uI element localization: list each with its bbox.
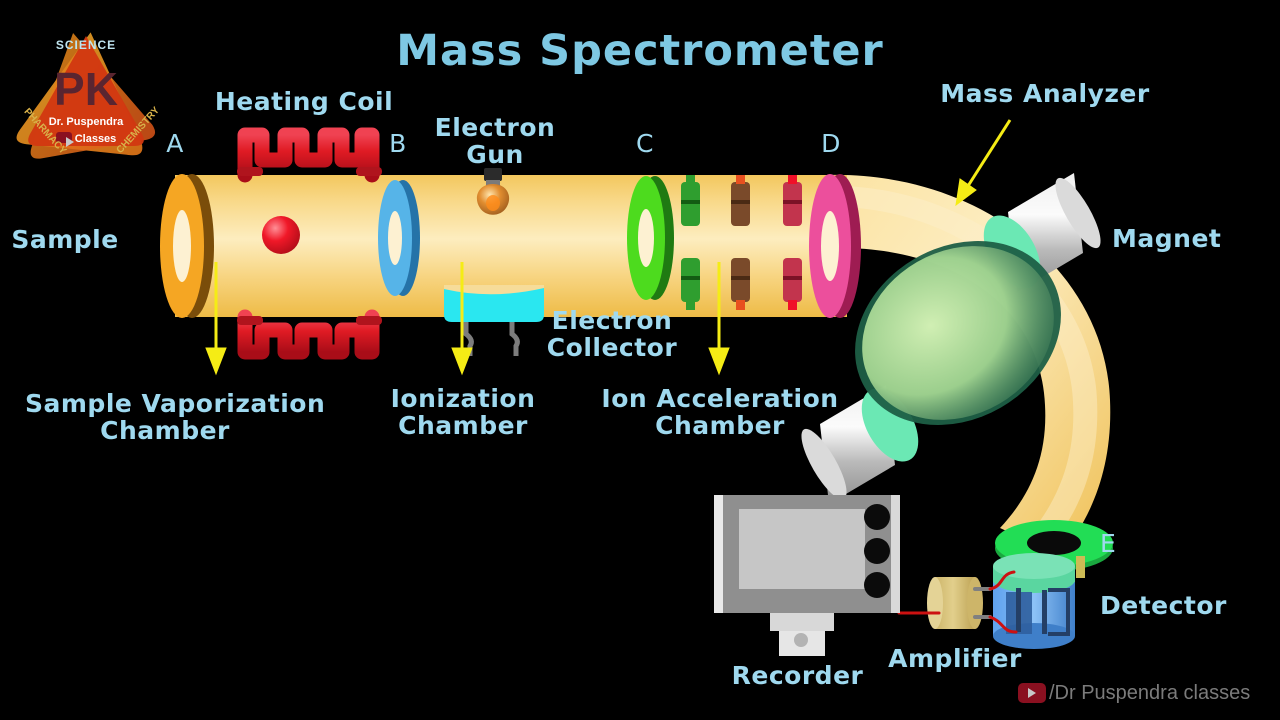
watermark-text: /Dr Puspendra classes bbox=[1049, 682, 1250, 704]
youtube-icon bbox=[1018, 683, 1046, 703]
label-recorder: Recorder bbox=[710, 662, 885, 689]
recorder-knob-3 bbox=[864, 572, 890, 598]
sample-droplet bbox=[262, 216, 300, 254]
label-mass-analyzer: Mass Analyzer bbox=[930, 80, 1160, 107]
page-title: Mass Spectrometer bbox=[340, 28, 940, 74]
label-ionization-chamber: Ionization Chamber bbox=[372, 385, 554, 439]
marker-a: A bbox=[155, 130, 195, 157]
heating-coil-top bbox=[237, 135, 382, 176]
label-ion-acceleration-chamber: Ion Acceleration Chamber bbox=[588, 385, 852, 439]
label-magnet: Magnet bbox=[1112, 225, 1262, 252]
label-electron-gun: Electron Gun bbox=[415, 114, 575, 168]
label-amplifier: Amplifier bbox=[880, 645, 1030, 672]
mass-analyzer-arrow bbox=[956, 120, 1010, 205]
marker-b: B bbox=[378, 130, 418, 157]
marker-c: C bbox=[625, 130, 665, 157]
marker-d: D bbox=[811, 130, 851, 157]
recorder-knob-2 bbox=[864, 538, 890, 564]
label-heating-coil: Heating Coil bbox=[199, 88, 409, 115]
ring-b-aperture bbox=[378, 180, 420, 296]
recorder-knob-1 bbox=[864, 504, 890, 530]
label-detector: Detector bbox=[1100, 592, 1240, 619]
ring-c-aperture bbox=[627, 176, 674, 300]
detector-assembly bbox=[993, 553, 1085, 649]
label-electron-collector: Electron Collector bbox=[532, 307, 692, 361]
recorder-unit bbox=[714, 495, 900, 656]
amplifier-unit bbox=[927, 577, 983, 629]
heating-coil-bottom bbox=[237, 316, 382, 352]
marker-e: E bbox=[1100, 530, 1140, 557]
label-sample-vaporization-chamber: Sample Vaporization Chamber bbox=[25, 390, 305, 444]
ring-d-aperture bbox=[809, 174, 861, 318]
electron-collector bbox=[444, 285, 544, 356]
watermark: /Dr Puspendra classes bbox=[1018, 682, 1250, 705]
diagram-canvas: SCIENCE PK Dr. Puspendra Classes PHARMAC… bbox=[0, 0, 1280, 720]
label-sample: Sample bbox=[0, 226, 130, 253]
